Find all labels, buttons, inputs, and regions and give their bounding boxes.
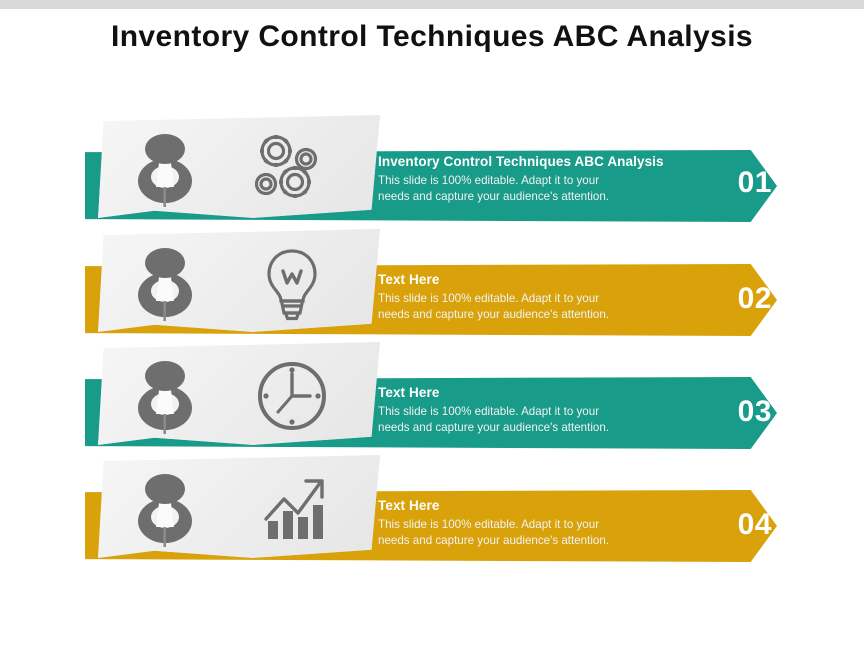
row-heading-4: Text Here xyxy=(378,498,678,513)
row-body-line2-1: needs and capture your audience's attent… xyxy=(378,189,678,205)
card-icon-group-1 xyxy=(98,115,380,218)
row-number-1: 01 xyxy=(738,166,772,200)
row-number-3: 03 xyxy=(738,395,772,429)
row-number-4: 04 xyxy=(738,508,772,542)
gears-icon xyxy=(250,129,334,209)
pushpin-icon xyxy=(126,465,204,551)
content-row-2[interactable]: Text Here This slide is 100% editable. A… xyxy=(0,224,864,342)
row-body-line1-1: This slide is 100% editable. Adapt it to… xyxy=(378,173,678,189)
growth-chart-icon xyxy=(250,469,334,549)
row-text-block-4: Text Here This slide is 100% editable. A… xyxy=(378,498,678,548)
lightbulb-icon xyxy=(250,243,334,323)
slide-canvas: Inventory Control Techniques ABC Analysi… xyxy=(0,0,864,648)
card-icon-group-4 xyxy=(98,455,380,558)
row-heading-1: Inventory Control Techniques ABC Analysi… xyxy=(378,154,678,169)
content-row-1[interactable]: Inventory Control Techniques ABC Analysi… xyxy=(0,110,864,228)
card-icon-group-2 xyxy=(98,229,380,332)
clock-icon xyxy=(250,356,334,436)
pushpin-icon xyxy=(126,352,204,438)
row-heading-2: Text Here xyxy=(378,272,678,287)
row-text-block-3: Text Here This slide is 100% editable. A… xyxy=(378,385,678,435)
row-number-2: 02 xyxy=(738,282,772,316)
row-text-block-2: Text Here This slide is 100% editable. A… xyxy=(378,272,678,322)
content-row-3[interactable]: Text Here This slide is 100% editable. A… xyxy=(0,337,864,455)
pushpin-icon xyxy=(126,125,204,211)
row-body-line2-3: needs and capture your audience's attent… xyxy=(378,420,678,436)
content-row-4[interactable]: Text Here This slide is 100% editable. A… xyxy=(0,450,864,568)
row-body-3: This slide is 100% editable. Adapt it to… xyxy=(378,404,678,435)
card-icon-group-3 xyxy=(98,342,380,445)
pushpin-icon xyxy=(126,239,204,325)
row-body-4: This slide is 100% editable. Adapt it to… xyxy=(378,517,678,548)
page-title: Inventory Control Techniques ABC Analysi… xyxy=(0,20,864,54)
row-body-line1-2: This slide is 100% editable. Adapt it to… xyxy=(378,291,678,307)
row-body-line1-3: This slide is 100% editable. Adapt it to… xyxy=(378,404,678,420)
row-heading-3: Text Here xyxy=(378,385,678,400)
row-text-block-1: Inventory Control Techniques ABC Analysi… xyxy=(378,154,678,204)
row-body-line2-2: needs and capture your audience's attent… xyxy=(378,307,678,323)
row-body-line2-4: needs and capture your audience's attent… xyxy=(378,533,678,549)
top-edge-strip xyxy=(0,0,864,9)
row-body-1: This slide is 100% editable. Adapt it to… xyxy=(378,173,678,204)
row-body-2: This slide is 100% editable. Adapt it to… xyxy=(378,291,678,322)
row-body-line1-4: This slide is 100% editable. Adapt it to… xyxy=(378,517,678,533)
